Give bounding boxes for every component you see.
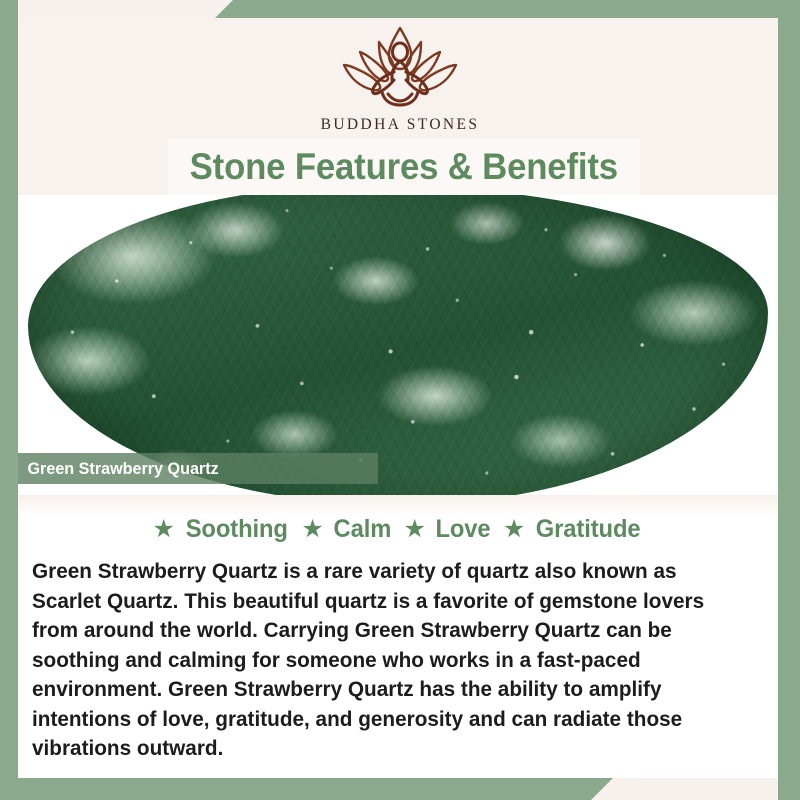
stone-features-poster: BUDDHA STONES Stone Features & Benefits …: [0, 0, 800, 800]
keyword-list: ★ Soothing ★ Calm ★ Love ★ Gratitude: [18, 515, 778, 544]
brand-logo: BUDDHA STONES: [0, 22, 800, 134]
card-top-fade: [18, 495, 778, 517]
description-text: Green Strawberry Quartz is a rare variet…: [32, 557, 742, 764]
keyword-item-calm: ★ Calm: [301, 515, 392, 544]
stone-caption-label: Green Strawberry Quartz: [18, 459, 219, 479]
star-icon: ★: [503, 517, 525, 542]
stone-speckle-texture: [28, 195, 768, 495]
keyword-label: Calm: [333, 515, 391, 544]
keyword-label: Soothing: [186, 515, 288, 544]
brand-name: BUDDHA STONES: [0, 116, 800, 134]
keyword-label: Gratitude: [536, 515, 641, 544]
stone-body: [28, 195, 768, 495]
description-card: ★ Soothing ★ Calm ★ Love ★ Gratitude Gre…: [18, 495, 778, 778]
page-title: Stone Features & Benefits: [190, 146, 618, 188]
stone-caption-bar: Green Strawberry Quartz: [18, 453, 378, 484]
keyword-label: Love: [435, 515, 490, 544]
star-icon: ★: [404, 517, 426, 542]
stone-photo: [18, 195, 778, 495]
frame-band-bottom: [0, 778, 613, 800]
keyword-item-gratitude: ★ Gratitude: [503, 515, 644, 544]
lotus-meditation-icon: [332, 22, 468, 114]
frame-band-top: [215, 0, 800, 18]
keyword-item-soothing: ★ Soothing: [152, 515, 290, 544]
page-title-plate: Stone Features & Benefits: [168, 138, 640, 195]
star-icon: ★: [301, 517, 323, 542]
star-icon: ★: [152, 517, 174, 542]
keyword-item-love: ★ Love: [404, 515, 492, 544]
